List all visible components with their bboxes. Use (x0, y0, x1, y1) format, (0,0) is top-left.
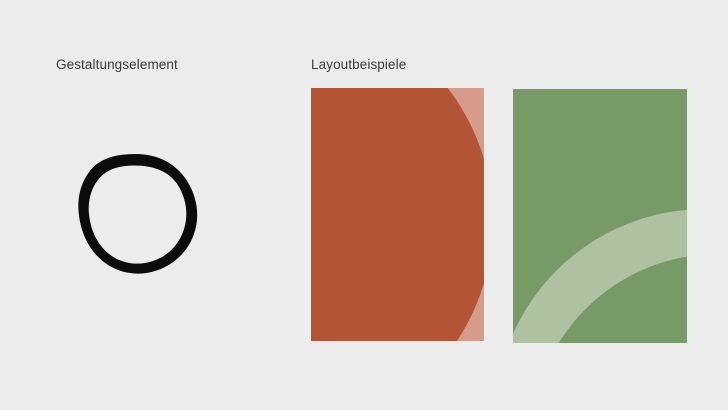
terracotta-card-band (311, 88, 484, 341)
hand-drawn-ring-icon (72, 152, 202, 282)
section-title-gestaltungselement: Gestaltungselement (56, 58, 178, 72)
section-title-layoutbeispiele: Layoutbeispiele (311, 58, 406, 72)
terracotta-card-artwork (311, 88, 484, 341)
green-card-artwork (513, 89, 687, 343)
green-card-band (513, 89, 687, 343)
layout-card-green[interactable] (513, 89, 687, 343)
layout-card-terracotta[interactable] (311, 88, 484, 341)
gestaltungselement-mark (72, 152, 202, 282)
design-sheet: Gestaltungselement Layoutbeispiele (0, 0, 728, 410)
